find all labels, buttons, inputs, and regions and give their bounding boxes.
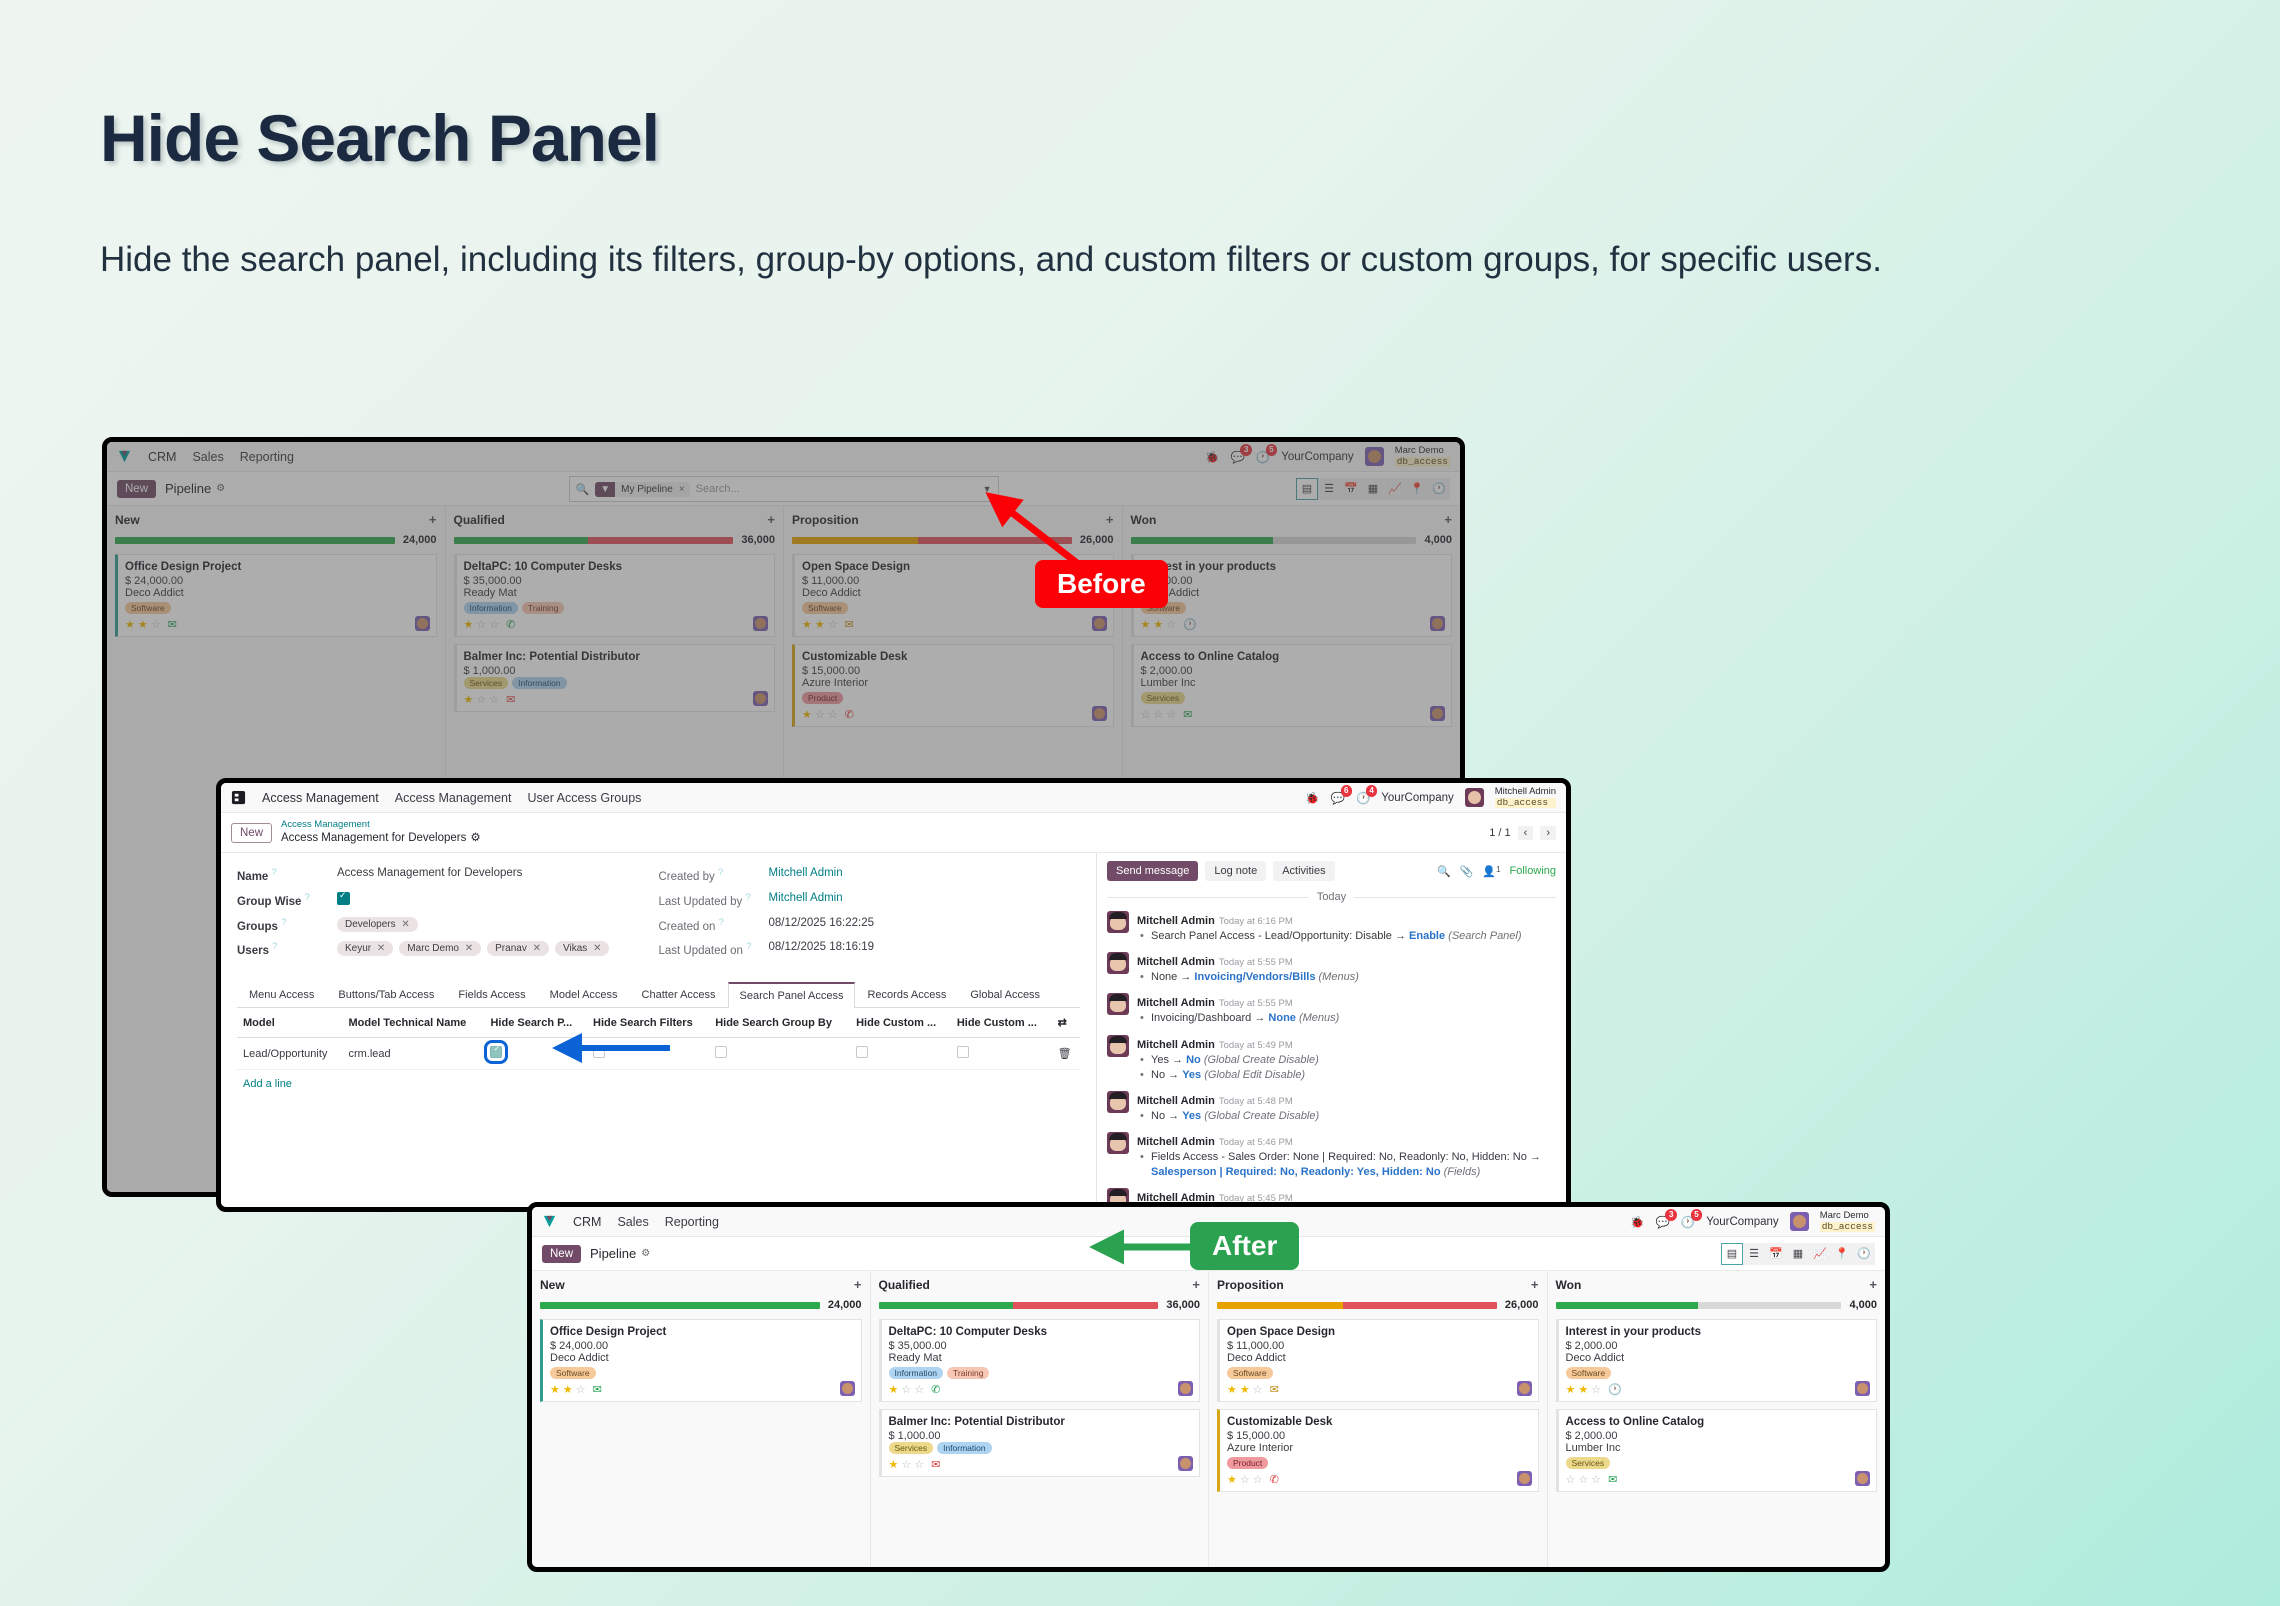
- avatar: [1107, 1132, 1129, 1154]
- kanban-card-amount: $ 11,000.00: [1227, 1340, 1531, 1352]
- messages-icon[interactable]: 💬 3: [1231, 450, 1245, 464]
- kanban-card-customer: Deco Addict: [125, 587, 429, 599]
- priority-star-icon[interactable]: ☆: [1591, 1473, 1601, 1486]
- avatar[interactable]: [1855, 1471, 1870, 1486]
- new-button[interactable]: New: [231, 823, 272, 843]
- avatar: [1107, 1091, 1129, 1113]
- view-kanban[interactable]: ▤: [1296, 478, 1318, 500]
- tracking-old-value: Search Panel Access - Lead/Opportunity: …: [1151, 930, 1395, 942]
- before-badge: Before: [1035, 560, 1168, 608]
- filter-icon: ▼: [595, 482, 615, 497]
- add-record-icon[interactable]: +: [1531, 1277, 1539, 1292]
- priority-star-icon[interactable]: ★: [563, 1383, 573, 1396]
- field-value[interactable]: Mitchell Admin: [769, 892, 843, 904]
- priority-star-icon[interactable]: ☆: [476, 693, 486, 706]
- crm-app-name[interactable]: CRM: [148, 450, 176, 464]
- tab-search-panel-access[interactable]: Search Panel Access: [728, 982, 856, 1008]
- kanban-card-footer: ★☆☆✉: [889, 1458, 1193, 1471]
- priority-star-icon[interactable]: ☆: [476, 618, 486, 631]
- kanban-card-footer: ★★☆🕐: [1141, 618, 1445, 631]
- user-menu[interactable]: Marc Demo db_access: [1820, 1211, 1875, 1233]
- bug-icon[interactable]: 🐞: [1630, 1215, 1644, 1229]
- kanban-card-footer: ★★☆✉: [550, 1383, 854, 1396]
- kanban-card[interactable]: DeltaPC: 10 Computer Desks$ 35,000.00Rea…: [879, 1319, 1201, 1402]
- pager-count: 1 / 1: [1489, 827, 1510, 839]
- cell-hide-search-filters-checkbox[interactable]: [593, 1046, 605, 1058]
- kanban-card-customer: Ready Mat: [464, 587, 768, 599]
- cell-hide-search-group-by-checkbox[interactable]: [715, 1046, 727, 1058]
- chatter-timestamp: Today at 5:55 PM: [1219, 957, 1293, 968]
- priority-star-icon[interactable]: ★: [464, 618, 474, 631]
- kanban-card[interactable]: Access to Online Catalog$ 2,000.00Lumber…: [1131, 644, 1453, 727]
- chatter-message: Mitchell AdminToday at 5:48 PMNo → Yes (…: [1107, 1091, 1556, 1124]
- add-a-line-button[interactable]: Add a line: [237, 1070, 1080, 1098]
- avatar[interactable]: [840, 1381, 855, 1396]
- tab-records-access[interactable]: Records Access: [855, 982, 958, 1007]
- company-name[interactable]: YourCompany: [1381, 792, 1453, 804]
- tag-software: Software: [1227, 1367, 1273, 1379]
- tracking-field-group: (Menus): [1299, 1012, 1339, 1024]
- priority-star-icon[interactable]: ☆: [914, 1458, 924, 1471]
- view-pivot[interactable]: ▦: [1362, 478, 1384, 500]
- avatar[interactable]: [753, 616, 768, 631]
- envelope-icon[interactable]: ✉: [845, 618, 854, 631]
- kanban-column-title: Won: [1556, 1278, 1582, 1292]
- chatter-message-body: Mitchell AdminToday at 5:55 PMNone → Inv…: [1137, 952, 1556, 985]
- kanban-card[interactable]: Interest in your products$ 2,000.00Deco …: [1131, 554, 1453, 637]
- priority-star-icon[interactable]: ☆: [1591, 1383, 1601, 1396]
- priority-star-icon[interactable]: ☆: [914, 1383, 924, 1396]
- crm-before-control-panel: New Pipeline ⚙ 🔍 ▼ My Pipeline × Search.…: [107, 472, 1460, 506]
- kanban-column-header: New+: [540, 1277, 862, 1292]
- kanban-card[interactable]: Customizable Desk$ 15,000.00Azure Interi…: [1217, 1409, 1539, 1492]
- priority-star-icon[interactable]: ☆: [828, 618, 838, 631]
- cell-model: Lead/Opportunity: [237, 1038, 342, 1070]
- kanban-card[interactable]: Office Design Project$ 24,000.00Deco Add…: [540, 1319, 862, 1402]
- search-panel-access-table: ModelModel Technical NameHide Search P..…: [237, 1008, 1080, 1070]
- arrow-icon: →: [1254, 1012, 1268, 1024]
- kanban-card-footer: ☆☆☆✉: [1141, 708, 1445, 721]
- avatar[interactable]: [1790, 1212, 1809, 1231]
- am-app-name[interactable]: Access Management: [262, 791, 379, 805]
- menu-reporting[interactable]: Reporting: [665, 1215, 719, 1229]
- priority-star-icon[interactable]: ★: [1240, 1383, 1250, 1396]
- breadcrumb[interactable]: Pipeline ⚙: [590, 1246, 650, 1261]
- chatter-message-header: Mitchell AdminToday at 5:55 PM: [1137, 993, 1556, 1011]
- chevron-right-icon[interactable]: ›: [1540, 826, 1556, 840]
- chatter-tracking-line: No → Yes (Global Edit Disable): [1137, 1068, 1556, 1083]
- tracking-new-value: No: [1186, 1054, 1204, 1066]
- priority-star-icon[interactable]: ★: [1566, 1383, 1576, 1396]
- envelope-icon[interactable]: ✉: [506, 693, 515, 706]
- kanban-card-amount: $ 15,000.00: [802, 665, 1106, 677]
- avatar[interactable]: [1092, 616, 1107, 631]
- view-list[interactable]: ☰: [1318, 478, 1340, 500]
- view-kanban[interactable]: ▤: [1721, 1243, 1743, 1265]
- kanban-card-title: Customizable Desk: [802, 651, 1106, 663]
- arrow-icon: →: [1168, 1069, 1182, 1081]
- breadcrumb[interactable]: Pipeline ⚙: [165, 481, 225, 496]
- priority-star-icon[interactable]: ☆: [151, 618, 161, 631]
- avatar[interactable]: [415, 616, 430, 631]
- column-header: Hide Search P...: [484, 1008, 587, 1038]
- pill-vikas[interactable]: Vikas ✕: [555, 941, 609, 956]
- kanban-column-won: Won+4,000Interest in your products$ 2,00…: [1548, 1271, 1886, 1572]
- add-record-icon[interactable]: +: [1192, 1277, 1200, 1292]
- log-note-button[interactable]: Log note: [1205, 861, 1266, 881]
- chatter-tracking-line: Fields Access - Sales Order: None | Requ…: [1137, 1150, 1556, 1180]
- add-record-icon[interactable]: +: [1106, 512, 1114, 527]
- gear-icon[interactable]: ⚙: [641, 1248, 650, 1259]
- priority-star-icon[interactable]: ☆: [1166, 708, 1176, 721]
- cell-hide-search-panel[interactable]: [484, 1038, 587, 1070]
- kanban-column-header: Won+: [1131, 512, 1453, 527]
- bug-icon[interactable]: 🐞: [1205, 450, 1219, 464]
- tag-software: Software: [550, 1367, 596, 1379]
- priority-star-icon[interactable]: ☆: [576, 1383, 586, 1396]
- priority-star-icon[interactable]: ★: [1153, 618, 1163, 631]
- chevron-left-icon[interactable]: ‹: [1518, 826, 1534, 840]
- phone-icon[interactable]: ✆: [506, 618, 515, 631]
- avatar: [1107, 952, 1129, 974]
- kanban-card[interactable]: Balmer Inc: Potential Distributor$ 1,000…: [454, 644, 776, 712]
- pill-keyur[interactable]: Keyur ✕: [337, 941, 393, 956]
- priority-star-icon[interactable]: ★: [464, 693, 474, 706]
- view-activity[interactable]: 🕐: [1428, 478, 1450, 500]
- search-facet-my-pipeline[interactable]: ▼ My Pipeline ×: [595, 482, 689, 497]
- paperclip-icon[interactable]: 📎: [1460, 865, 1474, 878]
- view-calendar[interactable]: 📅: [1340, 478, 1362, 500]
- activities-button[interactable]: Activities: [1273, 861, 1334, 881]
- kanban-card-footer: ★★☆🕐: [1566, 1383, 1870, 1396]
- chatter-message: Mitchell AdminToday at 5:55 PMInvoicing/…: [1107, 993, 1556, 1026]
- priority-star-icon[interactable]: ☆: [1566, 1473, 1576, 1486]
- tab-fields-access[interactable]: Fields Access: [446, 982, 537, 1007]
- tag-software: Software: [802, 602, 848, 614]
- kanban-card-amount: $ 2,000.00: [1141, 665, 1445, 677]
- kanban-card-footer: ☆☆☆✉: [1566, 1473, 1870, 1486]
- company-name[interactable]: YourCompany: [1706, 1216, 1778, 1228]
- add-record-icon[interactable]: +: [1869, 1277, 1877, 1292]
- form-field-name: Name ?Access Management for Developers: [237, 867, 659, 883]
- kanban-card-tags: InformationTraining: [464, 602, 768, 614]
- view-graph[interactable]: 📈: [1809, 1243, 1831, 1265]
- priority-star-icon[interactable]: ☆: [489, 693, 499, 706]
- kanban-card[interactable]: Customizable Desk$ 15,000.00Azure Interi…: [792, 644, 1114, 727]
- messages-count: 3: [1240, 444, 1251, 456]
- menu-reporting[interactable]: Reporting: [240, 450, 294, 464]
- kanban-card-amount: $ 24,000.00: [550, 1340, 854, 1352]
- trash-icon[interactable]: 🗑: [1052, 1038, 1080, 1070]
- user-menu[interactable]: Mitchell Admin db_access: [1495, 787, 1556, 809]
- field-value[interactable]: Mitchell Admin: [769, 867, 843, 879]
- avatar[interactable]: [1430, 616, 1445, 631]
- menu-user-access-groups[interactable]: User Access Groups: [527, 791, 641, 805]
- clock-icon[interactable]: 🕐 5: [1256, 450, 1270, 464]
- tag-services: Services: [889, 1442, 934, 1454]
- cell-hide-custom-1[interactable]: [850, 1038, 951, 1070]
- priority-star-icon[interactable]: ★: [1578, 1383, 1588, 1396]
- clock-icon[interactable]: 🕐: [1608, 1383, 1622, 1396]
- field-value: Keyur ✕Marc Demo ✕Pranav ✕Vikas ✕: [337, 941, 609, 956]
- priority-star-icon[interactable]: ☆: [1141, 708, 1151, 721]
- menu-sales[interactable]: Sales: [192, 450, 223, 464]
- form-field-group-wise: Group Wise ?: [237, 892, 659, 908]
- activities-count: 5: [1266, 444, 1277, 456]
- view-map[interactable]: 📍: [1406, 478, 1428, 500]
- cell-hide-custom-2[interactable]: [951, 1038, 1052, 1070]
- kanban-card-title: Interest in your products: [1141, 561, 1445, 573]
- menu-access-management[interactable]: Access Management: [395, 791, 512, 805]
- cell-hide-search-filters[interactable]: [587, 1038, 709, 1070]
- kanban-progressbar: 36,000: [879, 1299, 1201, 1311]
- chatter-message-body: Mitchell AdminToday at 5:48 PMNo → Yes (…: [1137, 1091, 1556, 1124]
- priority-star-icon[interactable]: ☆: [1253, 1383, 1263, 1396]
- chatter-message-header: Mitchell AdminToday at 5:48 PM: [1137, 1091, 1556, 1109]
- kanban-card-amount: $ 24,000.00: [125, 575, 429, 587]
- field-value[interactable]: Access Management for Developers: [337, 867, 522, 879]
- tag-product: Product: [1227, 1457, 1268, 1469]
- priority-star-icon[interactable]: ☆: [1253, 1473, 1263, 1486]
- kanban-card-footer: ★☆☆✆: [464, 618, 768, 631]
- odoo-crm-logo-icon: [542, 1214, 557, 1229]
- settings-columns-icon[interactable]: ⇄: [1052, 1008, 1080, 1038]
- bug-icon[interactable]: 🐞: [1305, 791, 1319, 805]
- progress-track[interactable]: [115, 537, 395, 544]
- avatar[interactable]: [1855, 1381, 1870, 1396]
- search-icon[interactable]: 🔍: [1437, 865, 1451, 878]
- gear-icon[interactable]: ⚙: [216, 483, 225, 494]
- tag-product: Product: [802, 692, 843, 704]
- gear-icon[interactable]: ⚙: [470, 831, 480, 845]
- envelope-icon[interactable]: ✉: [1183, 708, 1192, 721]
- priority-star-icon[interactable]: ★: [815, 618, 825, 631]
- search-input[interactable]: Search...: [696, 483, 740, 495]
- phone-icon[interactable]: ✆: [931, 1383, 940, 1396]
- chatter-tracking-line: Yes → No (Global Create Disable): [1137, 1053, 1556, 1068]
- kanban-column-title: Won: [1131, 513, 1157, 527]
- column-header: Hide Custom ...: [850, 1008, 951, 1038]
- field-label: Created by ?: [659, 867, 769, 883]
- kanban-card-title: Open Space Design: [1227, 1326, 1531, 1338]
- kanban-card-amount: $ 35,000.00: [464, 575, 768, 587]
- kanban-card-customer: Lumber Inc: [1141, 677, 1445, 689]
- kanban-card[interactable]: Balmer Inc: Potential Distributor$ 1,000…: [879, 1409, 1201, 1477]
- tracking-field-group: (Menus): [1319, 971, 1359, 983]
- priority-star-icon[interactable]: ☆: [901, 1458, 911, 1471]
- envelope-icon[interactable]: ✉: [1608, 1473, 1617, 1486]
- priority-star-icon[interactable]: ★: [1227, 1383, 1237, 1396]
- close-icon[interactable]: ✕: [377, 943, 385, 954]
- pill-marc-demo[interactable]: Marc Demo ✕: [399, 941, 481, 956]
- tracking-old-value: No: [1151, 1110, 1168, 1122]
- kanban-card-amount: $ 1,000.00: [889, 1430, 1193, 1442]
- chatter-message-body: Mitchell AdminToday at 6:16 PMSearch Pan…: [1137, 911, 1556, 944]
- progress-track[interactable]: [454, 537, 734, 544]
- kanban-card-amount: $ 15,000.00: [1227, 1430, 1531, 1442]
- priority-star-icon[interactable]: ☆: [1153, 708, 1163, 721]
- priority-star-icon[interactable]: ★: [802, 618, 812, 631]
- cell-hide-search-panel-checkbox[interactable]: [490, 1046, 502, 1058]
- kanban-card[interactable]: Interest in your products$ 2,000.00Deco …: [1556, 1319, 1878, 1402]
- add-record-icon[interactable]: +: [767, 512, 775, 527]
- priority-star-icon[interactable]: ★: [550, 1383, 560, 1396]
- clock-icon[interactable]: 🕐 5: [1681, 1215, 1695, 1229]
- table-row[interactable]: Lead/Opportunitycrm.lead🗑: [237, 1038, 1080, 1070]
- breadcrumb-parent[interactable]: Access Management: [281, 819, 481, 831]
- view-graph[interactable]: 📈: [1384, 478, 1406, 500]
- messages-icon[interactable]: 💬 3: [1656, 1215, 1670, 1229]
- add-record-icon[interactable]: +: [429, 512, 437, 527]
- new-button[interactable]: New: [117, 480, 156, 498]
- avatar[interactable]: [1178, 1381, 1193, 1396]
- kanban-card-customer: Deco Addict: [1566, 1352, 1870, 1364]
- priority-star-icon[interactable]: ★: [1227, 1473, 1237, 1486]
- add-record-icon[interactable]: +: [1444, 512, 1452, 527]
- clock-icon[interactable]: 🕐 4: [1356, 791, 1370, 805]
- priority-star-icon[interactable]: ★: [889, 1458, 899, 1471]
- progress-track[interactable]: [1131, 537, 1417, 544]
- kanban-column-header: New+: [115, 512, 437, 527]
- close-icon[interactable]: ✕: [465, 943, 473, 954]
- avatar[interactable]: [1465, 788, 1484, 807]
- priority-star-icon[interactable]: ☆: [1240, 1473, 1250, 1486]
- kanban-card-tags: Product: [802, 692, 1106, 704]
- new-button[interactable]: New: [542, 1245, 581, 1263]
- kanban-column-header: Proposition+: [792, 512, 1114, 527]
- chevron-down-icon[interactable]: ▼: [983, 484, 992, 494]
- tab-chatter-access[interactable]: Chatter Access: [630, 982, 728, 1007]
- progress-track[interactable]: [1556, 1302, 1842, 1309]
- priority-star-icon[interactable]: ☆: [489, 618, 499, 631]
- avatar[interactable]: [1517, 1381, 1532, 1396]
- cell-hide-search-group-by[interactable]: [709, 1038, 850, 1070]
- kanban-card-tags: Software: [125, 602, 429, 614]
- messages-icon[interactable]: 💬 6: [1331, 791, 1345, 805]
- tracking-old-value: None: [1151, 971, 1180, 983]
- avatar[interactable]: [1092, 706, 1107, 721]
- close-icon[interactable]: ✕: [533, 943, 541, 954]
- kanban-column-total: 36,000: [1166, 1299, 1200, 1311]
- view-activity[interactable]: 🕐: [1853, 1243, 1875, 1265]
- add-record-icon[interactable]: +: [854, 1277, 862, 1292]
- tab-buttons-tab-access[interactable]: Buttons/Tab Access: [326, 982, 446, 1007]
- priority-star-icon[interactable]: ★: [889, 1383, 899, 1396]
- kanban-card[interactable]: Access to Online Catalog$ 2,000.00Lumber…: [1556, 1409, 1878, 1492]
- priority-star-icon[interactable]: ☆: [828, 708, 838, 721]
- kanban-column-header: Won+: [1556, 1277, 1878, 1292]
- priority-star-icon[interactable]: ☆: [901, 1383, 911, 1396]
- avatar[interactable]: [1178, 1456, 1193, 1471]
- following-status[interactable]: Following: [1510, 865, 1556, 877]
- after-badge: After: [1190, 1222, 1299, 1270]
- company-name[interactable]: YourCompany: [1281, 451, 1353, 463]
- close-icon[interactable]: ✕: [401, 919, 409, 930]
- priority-star-icon[interactable]: ☆: [1166, 618, 1176, 631]
- tab-model-access[interactable]: Model Access: [538, 982, 630, 1007]
- avatar[interactable]: [1365, 447, 1384, 466]
- kanban-card[interactable]: Office Design Project$ 24,000.00Deco Add…: [115, 554, 437, 637]
- group-wise-checkbox[interactable]: [337, 892, 350, 905]
- progress-track[interactable]: [1217, 1302, 1497, 1309]
- envelope-icon[interactable]: ✉: [593, 1383, 602, 1396]
- avatar[interactable]: [753, 691, 768, 706]
- view-pivot[interactable]: ▦: [1787, 1243, 1809, 1265]
- field-label: Last Updated on ?: [659, 941, 769, 957]
- search-panel[interactable]: 🔍 ▼ My Pipeline × Search... ▼: [569, 476, 999, 502]
- kanban-card-title: DeltaPC: 10 Computer Desks: [889, 1326, 1193, 1338]
- tab-menu-access[interactable]: Menu Access: [237, 982, 326, 1007]
- close-icon[interactable]: ×: [679, 482, 690, 497]
- priority-star-icon[interactable]: ★: [1141, 618, 1151, 631]
- progress-track[interactable]: [540, 1302, 820, 1309]
- user-icon[interactable]: 👤1: [1482, 865, 1500, 878]
- kanban-card-customer: Deco Addict: [550, 1352, 854, 1364]
- db-name: db_access: [1820, 1222, 1875, 1233]
- pill-pranav[interactable]: Pranav ✕: [487, 941, 549, 956]
- kanban-card-footer: ★☆☆✆: [1227, 1473, 1531, 1486]
- access-management-window: Access Management Access Management User…: [216, 778, 1571, 1212]
- progress-track[interactable]: [792, 537, 1072, 544]
- menu-sales[interactable]: Sales: [617, 1215, 648, 1229]
- priority-star-icon[interactable]: ☆: [815, 708, 825, 721]
- tracking-field-group: (Search Panel): [1448, 930, 1521, 942]
- user-menu[interactable]: Marc Demo db_access: [1395, 446, 1450, 468]
- priority-star-icon[interactable]: ☆: [1578, 1473, 1588, 1486]
- kanban-card-title: Balmer Inc: Potential Distributor: [889, 1416, 1193, 1428]
- crm-app-name[interactable]: CRM: [573, 1215, 601, 1229]
- kanban-card[interactable]: Open Space Design$ 11,000.00Deco AddictS…: [1217, 1319, 1539, 1402]
- tab-global-access[interactable]: Global Access: [958, 982, 1052, 1007]
- chatter-author: Mitchell Admin: [1137, 915, 1215, 927]
- progress-track[interactable]: [879, 1302, 1159, 1309]
- priority-star-icon[interactable]: ★: [802, 708, 812, 721]
- avatar[interactable]: [1430, 706, 1445, 721]
- avatar[interactable]: [1517, 1471, 1532, 1486]
- priority-star-icon[interactable]: ★: [138, 618, 148, 631]
- field-label: Created on ?: [659, 917, 769, 933]
- priority-star-icon[interactable]: ★: [125, 618, 135, 631]
- tag-training: Training: [947, 1367, 989, 1379]
- phone-icon[interactable]: ✆: [1270, 1473, 1279, 1486]
- envelope-icon[interactable]: ✉: [1270, 1383, 1279, 1396]
- pill-developers[interactable]: Developers ✕: [337, 917, 418, 932]
- envelope-icon[interactable]: ✉: [931, 1458, 940, 1471]
- view-map[interactable]: 📍: [1831, 1243, 1853, 1265]
- view-switcher: ▤ ☰ 📅 ▦ 📈 📍 🕐: [1721, 1243, 1875, 1265]
- kanban-progressbar: 36,000: [454, 534, 776, 546]
- clock-icon[interactable]: 🕐: [1183, 618, 1197, 631]
- kanban-card-title: Access to Online Catalog: [1141, 651, 1445, 663]
- kanban-card-footer: ★☆☆✆: [802, 708, 1106, 721]
- chatter-tracking-line: None → Invoicing/Vendors/Bills (Menus): [1137, 970, 1556, 985]
- close-icon[interactable]: ✕: [593, 943, 601, 954]
- send-message-button[interactable]: Send message: [1107, 861, 1198, 881]
- phone-icon[interactable]: ✆: [845, 708, 854, 721]
- cell-hide-custom-2-checkbox[interactable]: [957, 1046, 969, 1058]
- kanban-card[interactable]: DeltaPC: 10 Computer Desks$ 35,000.00Rea…: [454, 554, 776, 637]
- view-calendar[interactable]: 📅: [1765, 1243, 1787, 1265]
- tracking-old-value: Fields Access - Sales Order: None | Requ…: [1151, 1151, 1530, 1163]
- kanban-card-title: DeltaPC: 10 Computer Desks: [464, 561, 768, 573]
- envelope-icon[interactable]: ✉: [168, 618, 177, 631]
- cell-hide-custom-1-checkbox[interactable]: [856, 1046, 868, 1058]
- kanban-card-customer: Azure Interior: [1227, 1442, 1531, 1454]
- view-list[interactable]: ☰: [1743, 1243, 1765, 1265]
- chatter-toolbar: Send message Log note Activities 🔍 📎 👤1 …: [1107, 861, 1556, 881]
- chatter-message-body: Mitchell AdminToday at 5:49 PMYes → No (…: [1137, 1035, 1556, 1083]
- followers-count: 1: [1496, 865, 1500, 878]
